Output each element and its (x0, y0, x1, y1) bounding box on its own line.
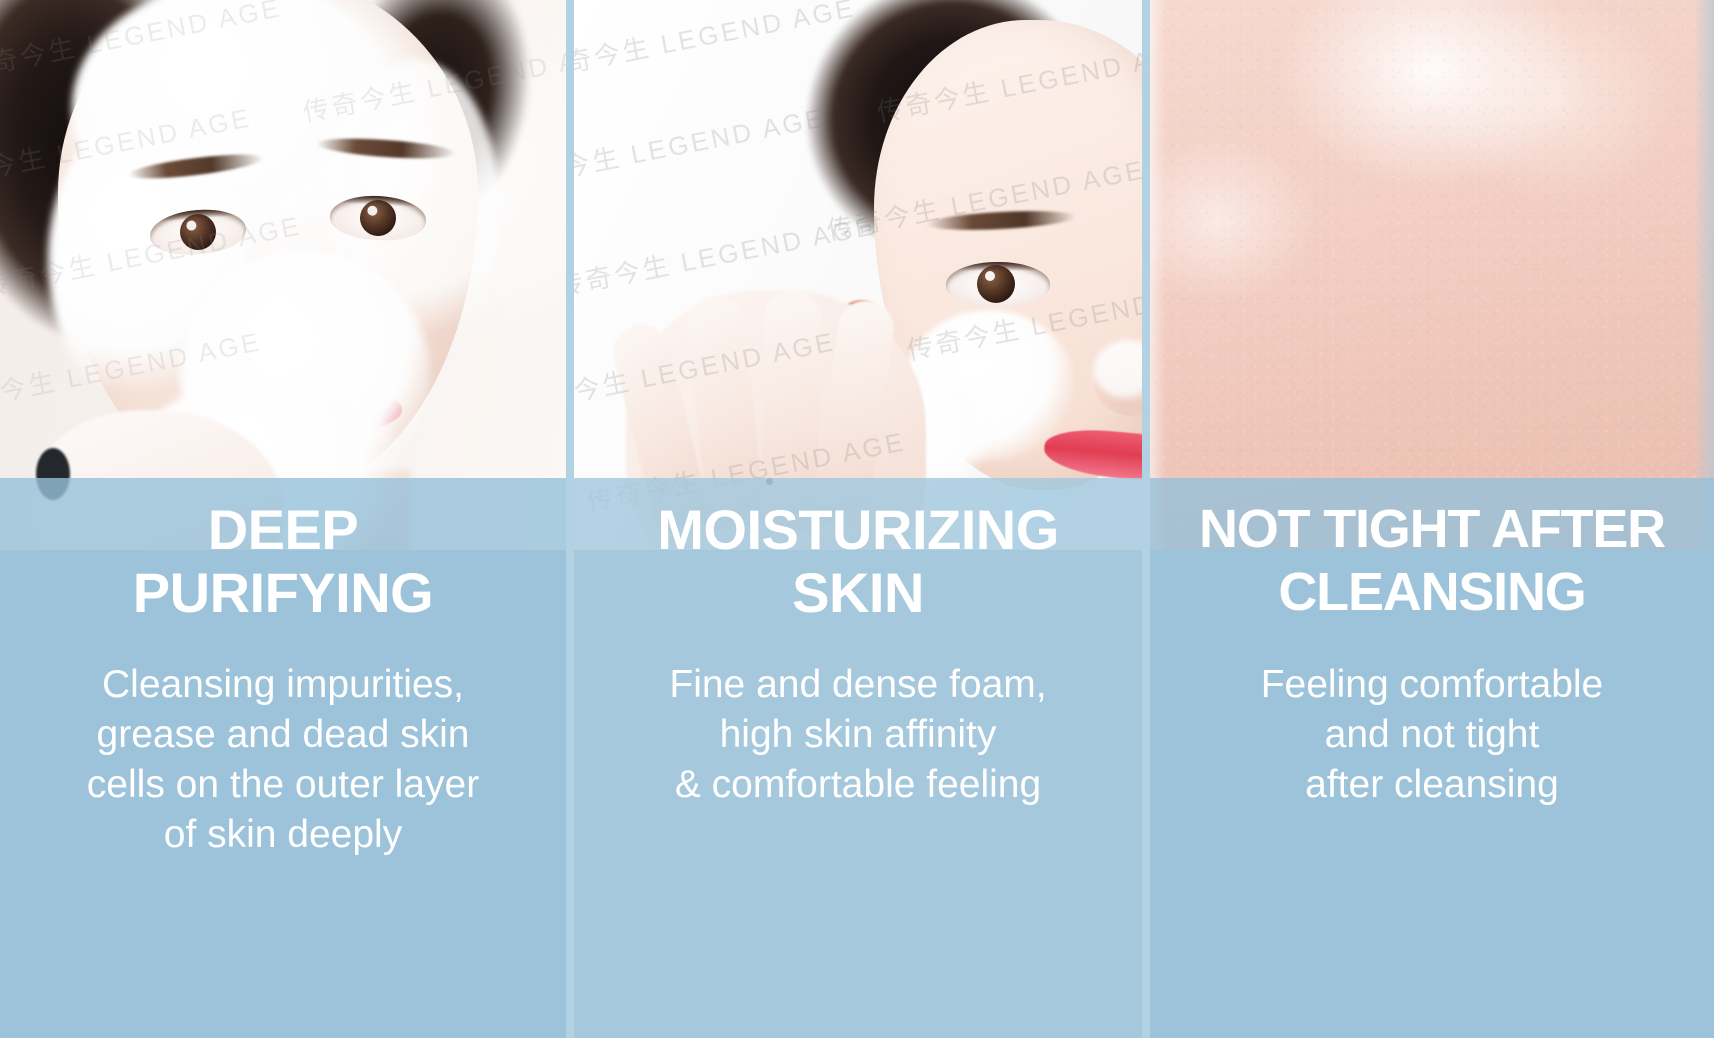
caption-content: DEEP PURIFYING Cleansing impurities, gre… (10, 478, 556, 860)
benefit-title: MOISTURIZING SKIN (657, 498, 1059, 624)
skin-grain-texture (1150, 0, 1714, 550)
benefit-title: NOT TIGHT AFTER CLEANSING (1199, 498, 1665, 624)
benefit-photo-deep-purifying: 传奇今生 LEGEND AGE 传奇今生 LEGEND AGE 传奇今生 LEG… (0, 0, 566, 550)
photo-edge-shade-right (1694, 0, 1714, 550)
caption-content: MOISTURIZING SKIN Fine and dense foam, h… (584, 478, 1132, 810)
benefit-panel-not-tight-after-cleansing: NOT TIGHT AFTER CLEANSING Feeling comfor… (1150, 0, 1714, 1038)
benefit-description: Feeling comfortable and not tight after … (1261, 660, 1604, 810)
benefit-panel-deep-purifying: 传奇今生 LEGEND AGE 传奇今生 LEGEND AGE 传奇今生 LEG… (0, 0, 566, 1038)
panel-divider-1 (566, 0, 574, 1038)
caption-content: NOT TIGHT AFTER CLEANSING Feeling comfor… (1160, 478, 1704, 810)
benefit-panel-moisturizing-skin: 传奇今生 LEGEND AGE 传奇今生 LEGEND AGE 传奇今生 LEG… (574, 0, 1142, 1038)
benefit-title: DEEP PURIFYING (133, 498, 433, 624)
eye (946, 262, 1050, 306)
benefit-photo-not-tight-after-cleansing (1150, 0, 1714, 550)
benefit-photo-moisturizing-skin: 传奇今生 LEGEND AGE 传奇今生 LEGEND AGE 传奇今生 LEG… (574, 0, 1142, 550)
benefit-description: Cleansing impurities, grease and dead sk… (87, 660, 479, 860)
photo-edge-highlight-left (1150, 0, 1166, 550)
benefit-description: Fine and dense foam, high skin affinity … (669, 660, 1046, 810)
caption-band-moisturizing-skin: MOISTURIZING SKIN Fine and dense foam, h… (574, 478, 1142, 1038)
caption-band-deep-purifying: DEEP PURIFYING Cleansing impurities, gre… (0, 478, 566, 1038)
eyelash (946, 262, 1050, 271)
product-benefits-banner: 传奇今生 LEGEND AGE 传奇今生 LEGEND AGE 传奇今生 LEG… (0, 0, 1714, 1038)
panel-divider-2 (1142, 0, 1150, 1038)
caption-band-not-tight-after-cleansing: NOT TIGHT AFTER CLEANSING Feeling comfor… (1150, 478, 1714, 1038)
